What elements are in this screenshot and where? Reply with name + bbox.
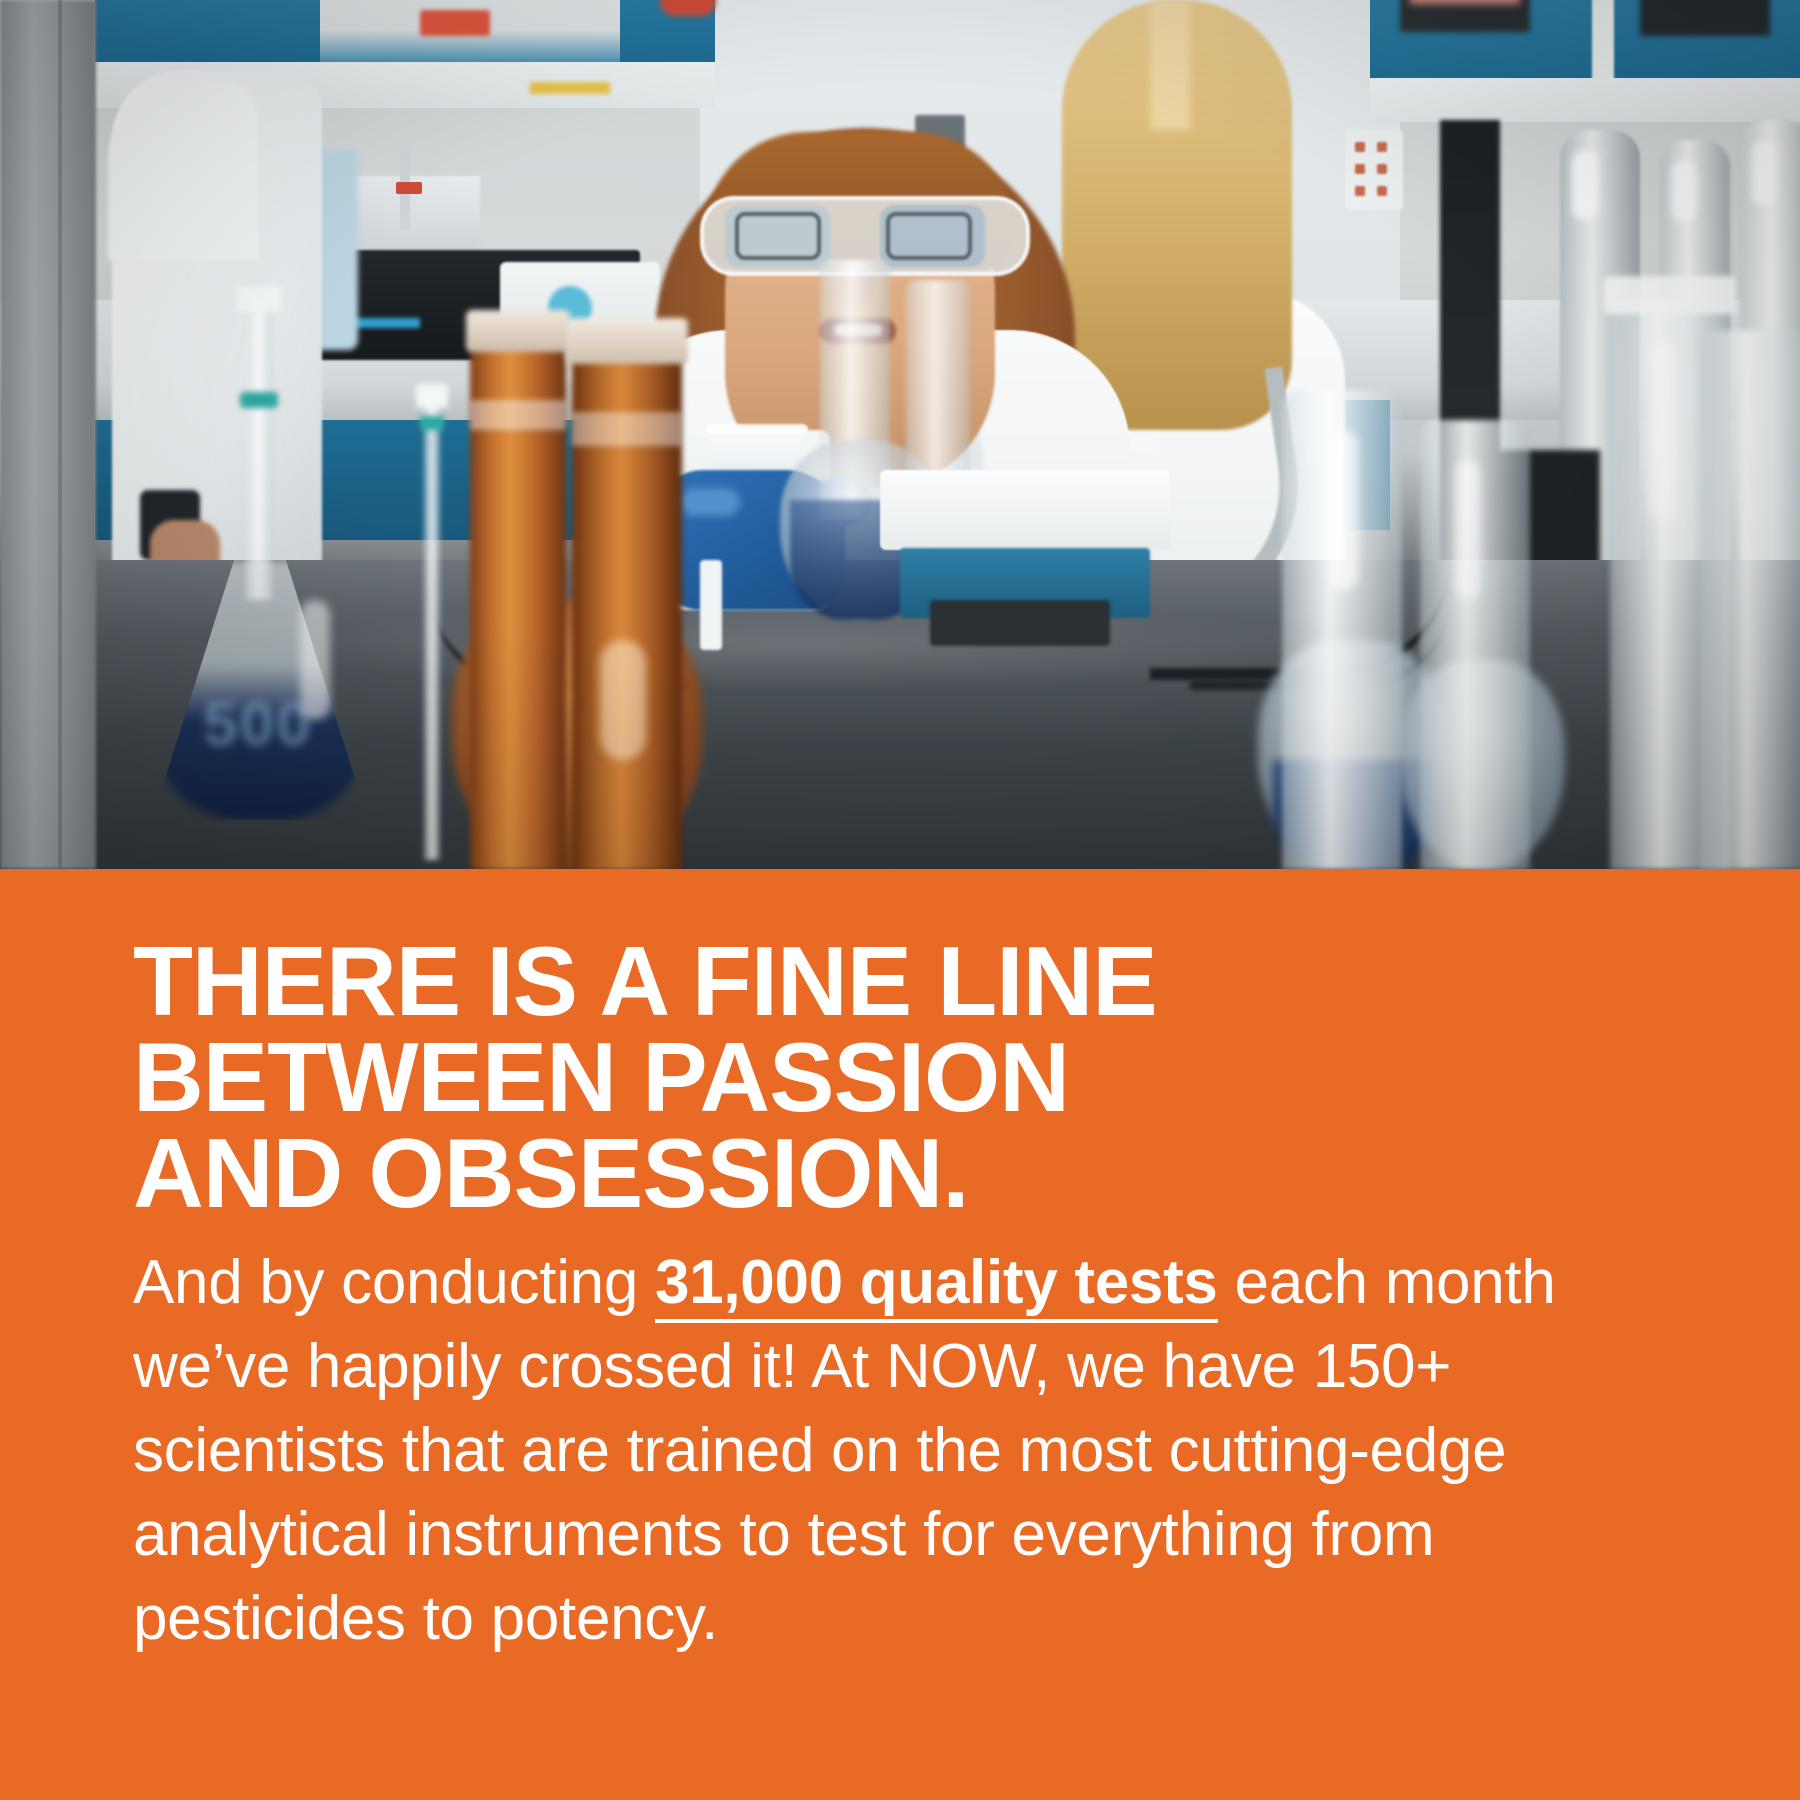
headline-line-1: THERE IS A FINE LINE — [133, 933, 1693, 1029]
photo-vignette — [0, 0, 1800, 869]
body-text-before: And by conducting — [133, 1248, 655, 1317]
poster-root: 500 THERE IS A FINE LINE BETWEEN PASS — [0, 0, 1800, 1800]
headline-line-2: BETWEEN PASSION — [133, 1029, 1693, 1125]
orange-content-panel: THERE IS A FINE LINE BETWEEN PASSION AND… — [0, 869, 1800, 1800]
lab-photo: 500 — [0, 0, 1800, 869]
page-title: THERE IS A FINE LINE BETWEEN PASSION AND… — [133, 933, 1693, 1221]
headline-line-3: AND OBSESSION. — [133, 1125, 1693, 1221]
body-paragraph: And by conducting 31,000 quality tests e… — [133, 1241, 1663, 1661]
quality-tests-emphasis: 31,000 quality tests — [655, 1248, 1218, 1323]
